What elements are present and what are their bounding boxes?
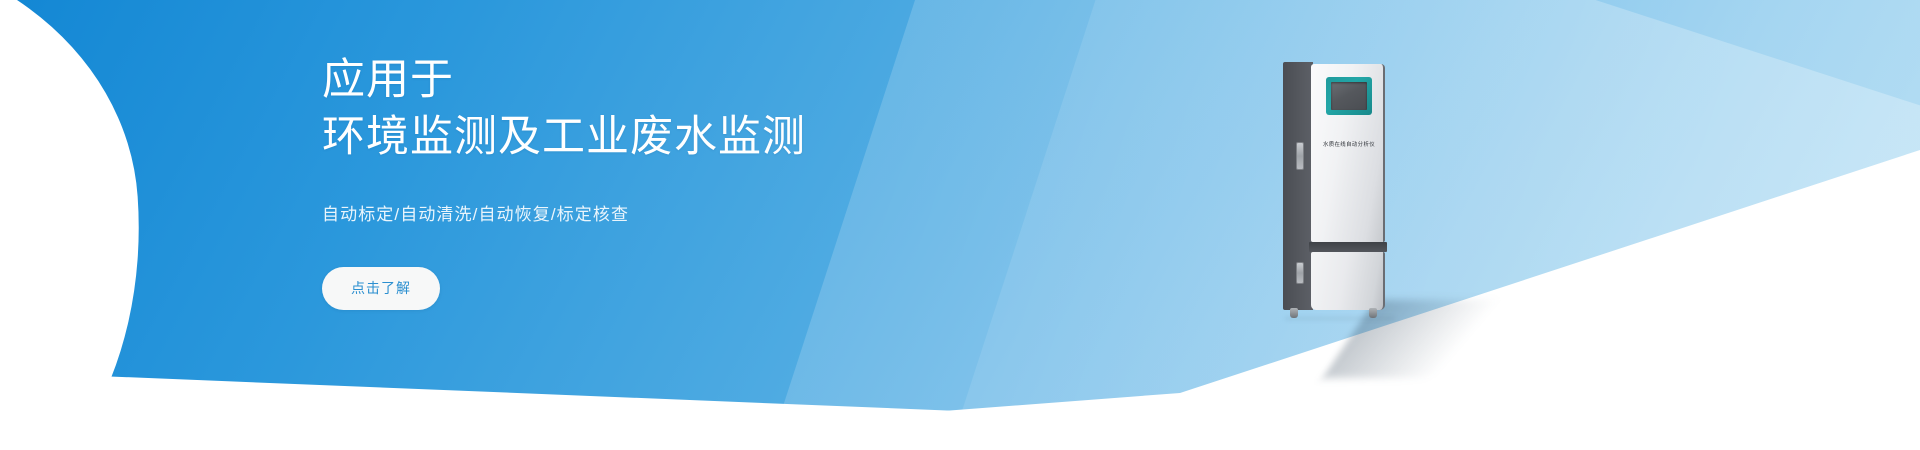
device-shadow xyxy=(1323,300,1536,378)
learn-more-button[interactable]: 点击了解 xyxy=(322,267,440,310)
device-cabinet: 水质在线自动分析仪 xyxy=(1283,62,1385,310)
headline-line-2: 环境监测及工业废水监测 xyxy=(322,109,1082,166)
device-screen xyxy=(1331,82,1367,110)
headline-line-1: 应用于 xyxy=(322,56,454,104)
device-label-text: 水质在线自动分析仪 xyxy=(1313,140,1385,148)
product-image-water-quality-analyzer: 水质在线自动分析仪 xyxy=(1283,62,1523,382)
page-title: 应用于 环境监测及工业废水监测 xyxy=(322,52,1082,166)
hero-subtitle: 自动标定/自动清洗/自动恢复/标定核查 xyxy=(322,200,1082,225)
device-upper-handle xyxy=(1296,142,1304,170)
device-lower-handle xyxy=(1296,262,1304,284)
device-door-divider xyxy=(1309,242,1387,252)
device-floor-contact xyxy=(1285,317,1395,320)
hero-banner: 应用于 环境监测及工业废水监测 自动标定/自动清洗/自动恢复/标定核查 点击了解… xyxy=(0,0,1920,450)
hero-copy: 应用于 环境监测及工业废水监测 自动标定/自动清洗/自动恢复/标定核查 点击了解 xyxy=(322,52,1082,310)
device-screen-bezel xyxy=(1326,77,1372,115)
device-lower-door xyxy=(1311,252,1385,310)
